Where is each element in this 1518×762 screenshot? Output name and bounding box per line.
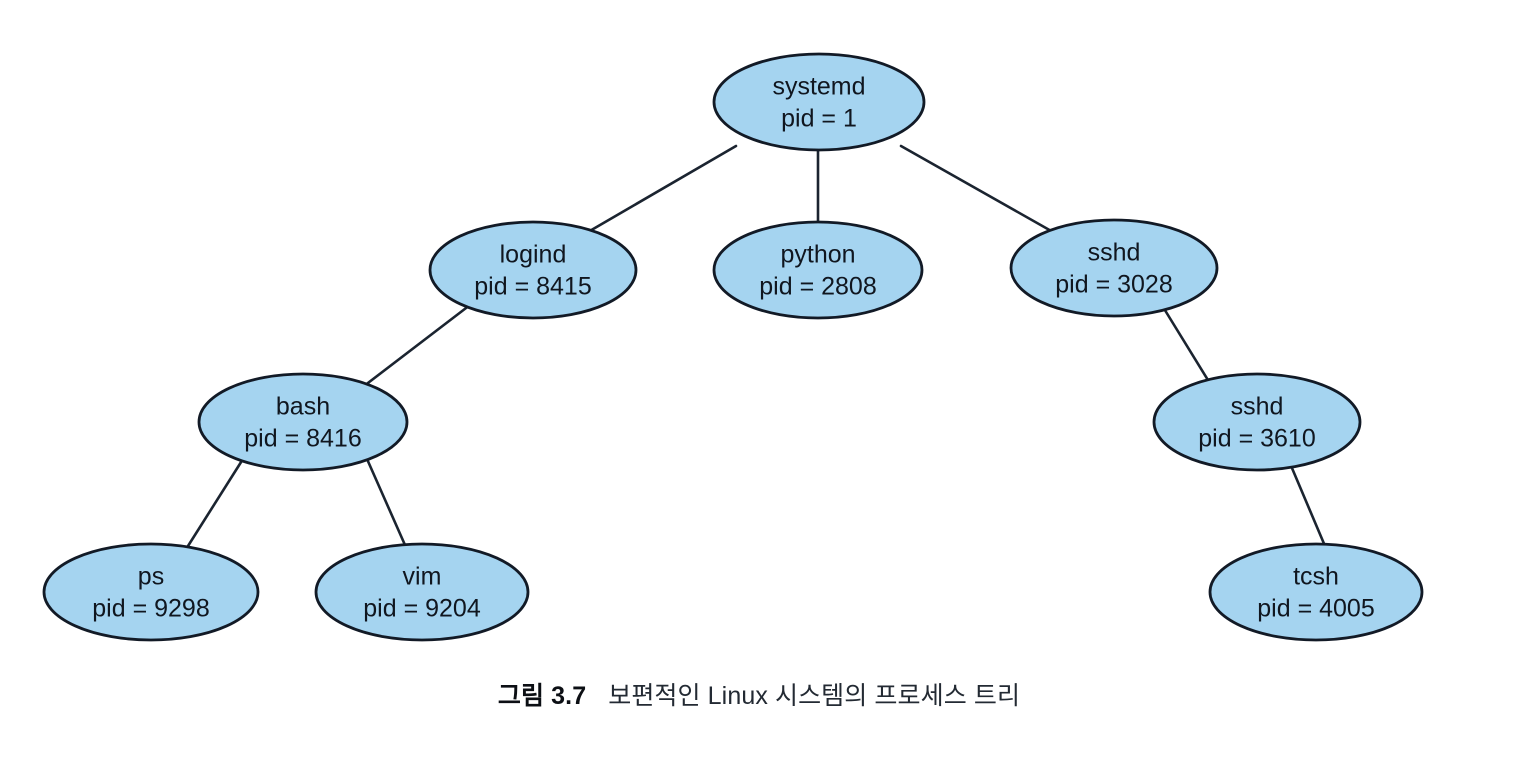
process-pid-python: pid = 2808 <box>759 273 876 301</box>
process-pid-sshd2: pid = 3610 <box>1198 425 1315 453</box>
tree-edge-sshd1-to-sshd2 <box>1163 307 1211 385</box>
process-node-logind[interactable]: logindpid = 8415 <box>430 222 636 318</box>
process-pid-logind: pid = 8415 <box>474 273 591 301</box>
tree-edge-bash-to-ps <box>188 459 243 546</box>
process-node-shape-tcsh <box>1210 544 1422 640</box>
process-name-logind: logind <box>500 241 567 269</box>
process-node-tcsh[interactable]: tcshpid = 4005 <box>1210 544 1422 640</box>
process-node-shape-ps <box>44 544 258 640</box>
process-tree-diagram: systemdpid = 1logindpid = 8415pythonpid … <box>0 0 1518 680</box>
tree-edge-sshd2-to-tcsh <box>1289 461 1325 546</box>
figure-caption-label: 그림 3.7 <box>498 682 586 710</box>
process-name-ps: ps <box>138 563 164 591</box>
process-node-sshd1[interactable]: sshdpid = 3028 <box>1011 220 1217 316</box>
process-node-bash[interactable]: bashpid = 8416 <box>199 374 407 470</box>
process-node-systemd[interactable]: systemdpid = 1 <box>714 54 924 150</box>
process-tree-figure: systemdpid = 1logindpid = 8415pythonpid … <box>0 0 1518 762</box>
process-name-systemd: systemd <box>772 73 865 101</box>
process-name-python: python <box>780 241 855 269</box>
tree-nodes: systemdpid = 1logindpid = 8415pythonpid … <box>44 54 1422 640</box>
process-node-shape-systemd <box>714 54 924 150</box>
process-pid-sshd1: pid = 3028 <box>1055 271 1172 299</box>
process-node-sshd2[interactable]: sshdpid = 3610 <box>1154 374 1360 470</box>
process-pid-ps: pid = 9298 <box>92 595 209 623</box>
process-node-shape-logind <box>430 222 636 318</box>
process-node-ps[interactable]: pspid = 9298 <box>44 544 258 640</box>
process-node-shape-sshd1 <box>1011 220 1217 316</box>
process-pid-vim: pid = 9204 <box>363 595 481 623</box>
process-name-sshd2: sshd <box>1231 393 1284 421</box>
tree-edges <box>188 146 1325 546</box>
process-node-shape-sshd2 <box>1154 374 1360 470</box>
tree-edge-logind-to-bash <box>364 305 470 386</box>
process-pid-systemd: pid = 1 <box>781 105 857 133</box>
process-node-shape-bash <box>199 374 407 470</box>
process-node-python[interactable]: pythonpid = 2808 <box>714 222 922 318</box>
process-pid-tcsh: pid = 4005 <box>1257 595 1374 623</box>
figure-caption: 그림 3.7보편적인 Linux 시스템의 프로세스 트리 <box>0 676 1518 712</box>
process-node-shape-python <box>714 222 922 318</box>
tree-edge-systemd-to-sshd1 <box>901 146 1053 232</box>
process-node-vim[interactable]: vimpid = 9204 <box>316 544 528 640</box>
tree-edge-systemd-to-logind <box>588 146 736 232</box>
process-name-bash: bash <box>276 393 330 421</box>
figure-caption-text: 보편적인 Linux 시스템의 프로세스 트리 <box>608 682 1020 710</box>
process-node-shape-vim <box>316 544 528 640</box>
process-pid-bash: pid = 8416 <box>244 425 361 453</box>
tree-edge-bash-to-vim <box>367 459 405 545</box>
process-name-sshd1: sshd <box>1088 239 1141 267</box>
process-name-tcsh: tcsh <box>1293 563 1339 591</box>
process-name-vim: vim <box>403 563 442 591</box>
